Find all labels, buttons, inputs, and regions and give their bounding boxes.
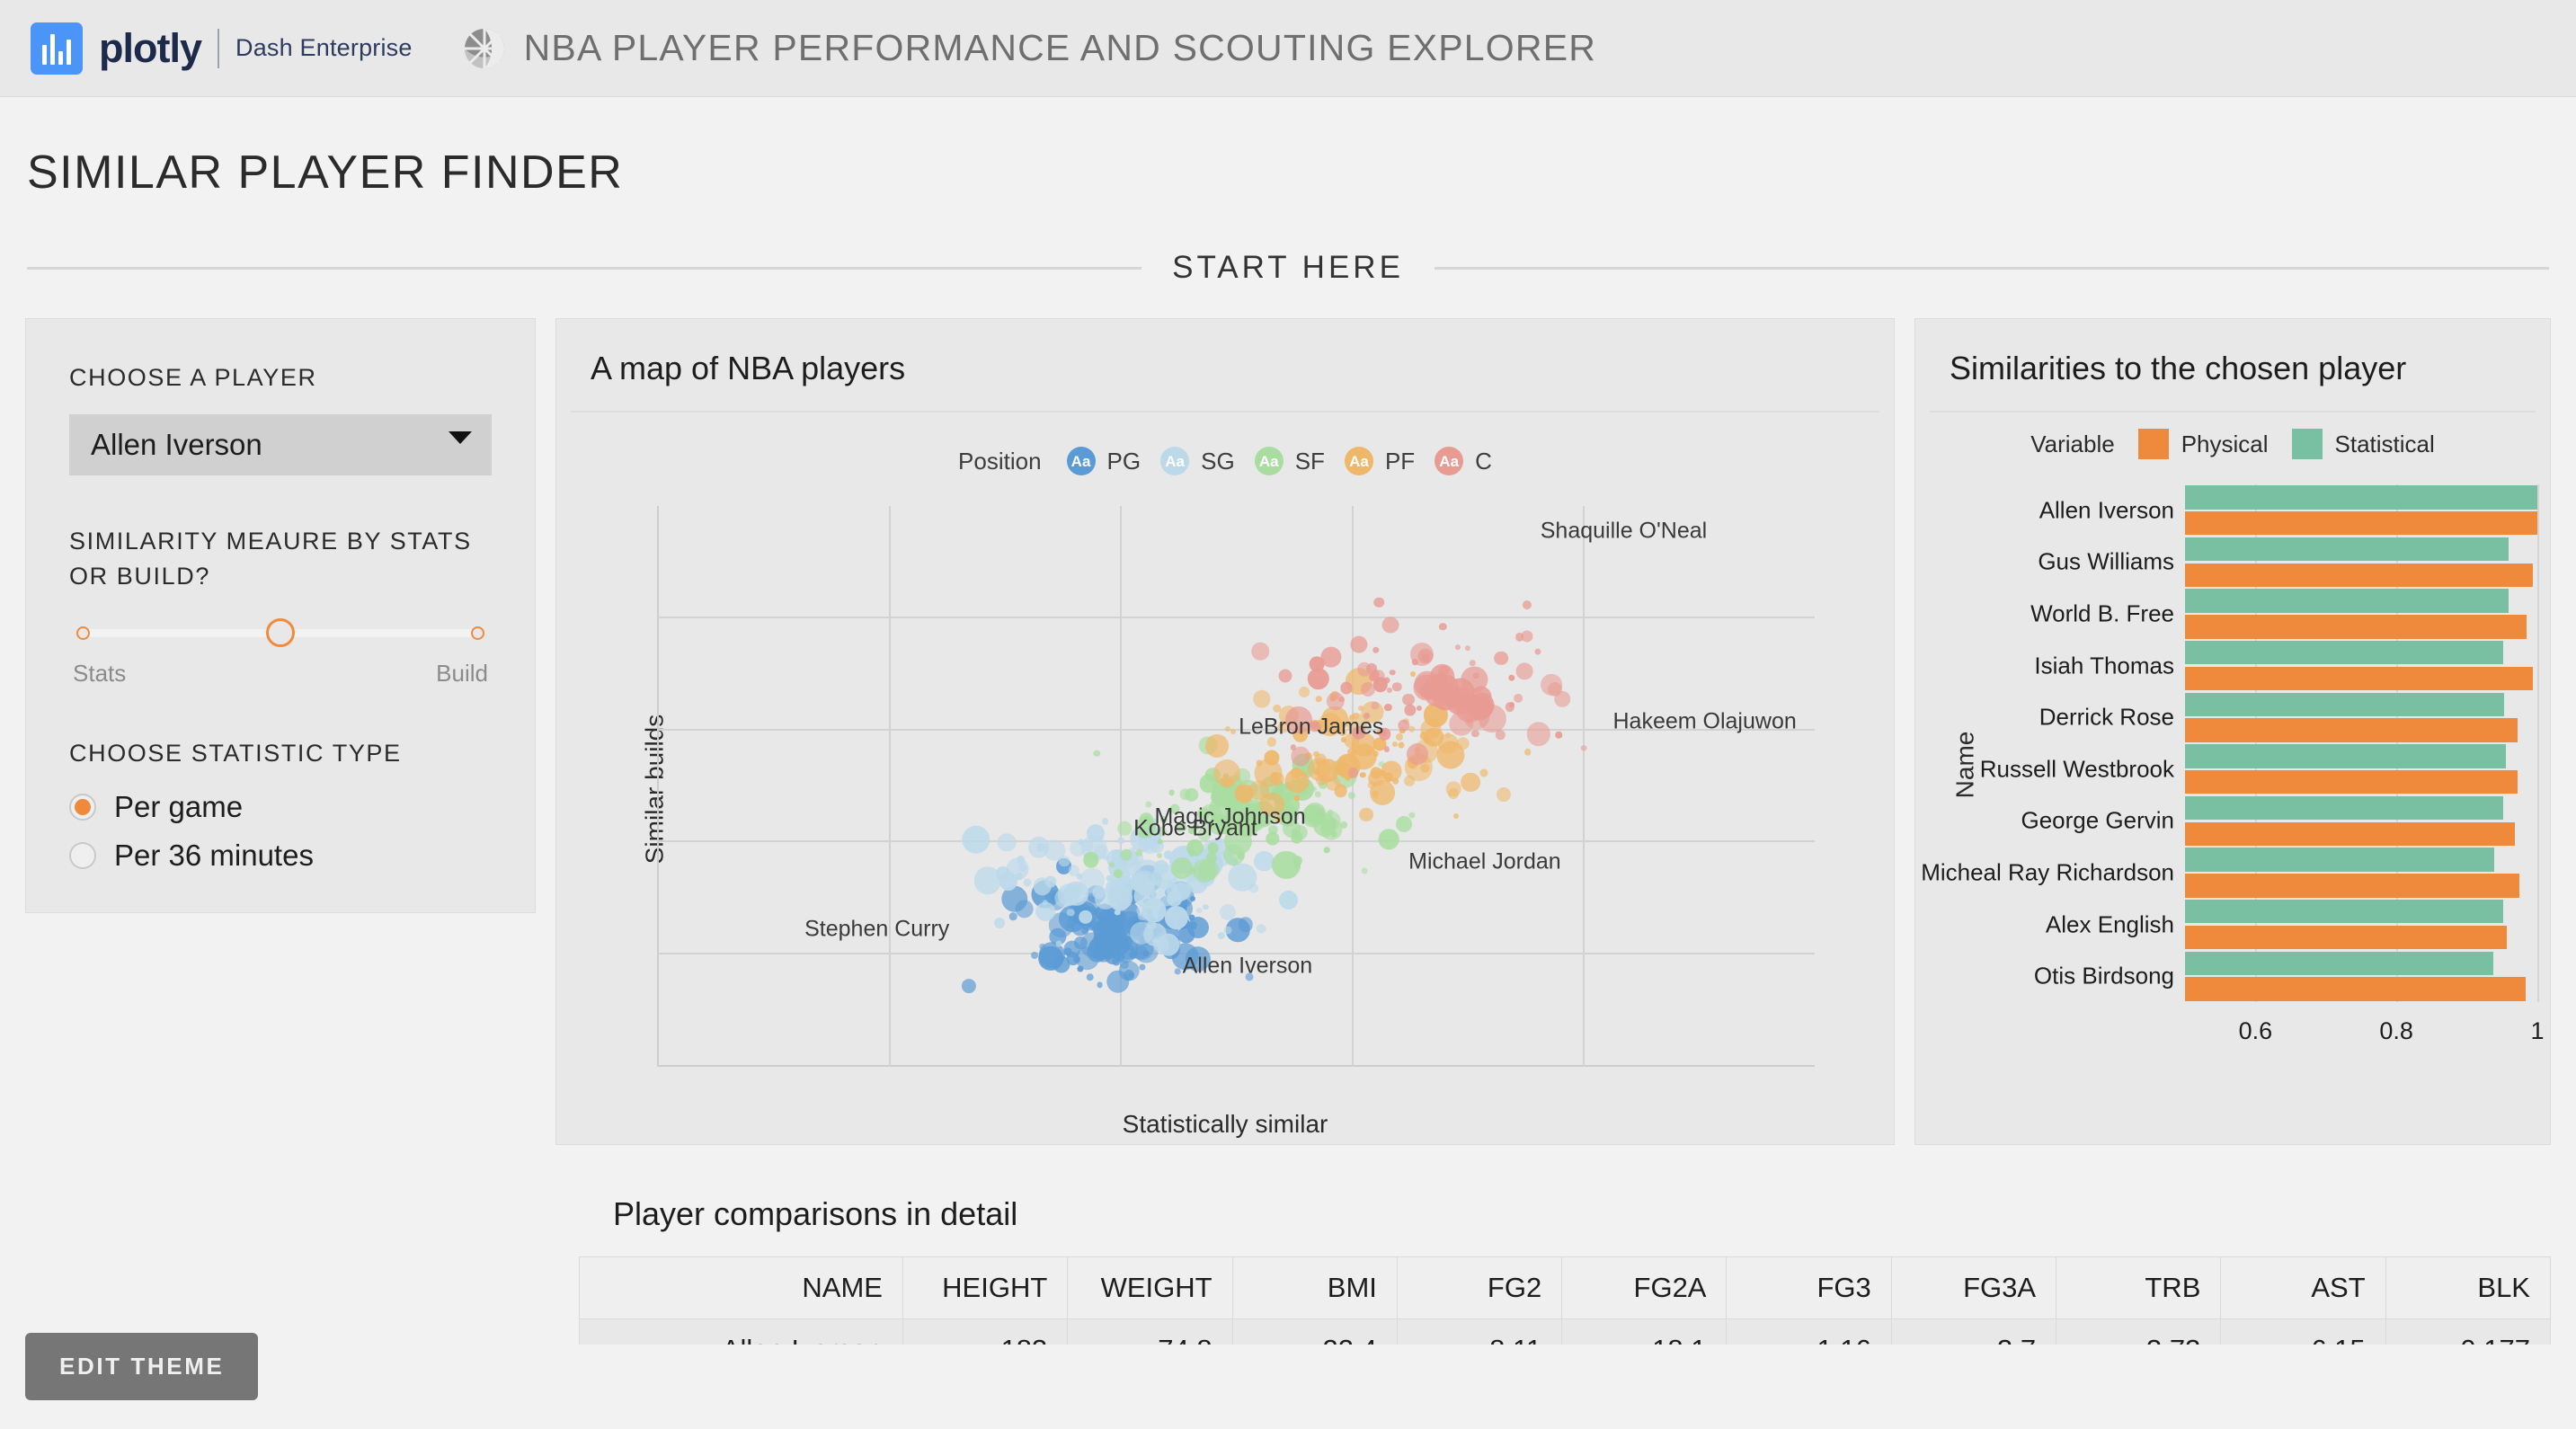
scatter-point[interactable] (1129, 972, 1134, 978)
scatter-point[interactable] (1205, 734, 1229, 758)
scatter-point[interactable] (1271, 772, 1278, 779)
scatter-point[interactable] (1193, 859, 1216, 883)
app-title: NBA PLAYER PERFORMANCE AND SCOUTING EXPL… (524, 27, 1596, 69)
scatter-point[interactable] (1359, 807, 1373, 821)
bar-category-label: Allen Iverson (2039, 496, 2174, 524)
bar-category-label: Derrick Rose (2039, 704, 2174, 732)
scatter-point[interactable] (1179, 789, 1191, 801)
scatter-point[interactable] (1039, 944, 1046, 951)
scatter-plot[interactable]: Position Aa PG Aa SG Aa SF Aa PF (556, 413, 1894, 1166)
similarity-slider[interactable] (75, 613, 486, 654)
scatter-point[interactable] (1265, 750, 1280, 765)
page-title: SIMILAR PLAYER FINDER (0, 97, 2576, 200)
legend-item-pg[interactable]: Aa PG (1067, 447, 1141, 475)
bar-physical[interactable] (2185, 615, 2527, 638)
table-body: Allen Iverson18374.822.48.1118.11.163.73… (580, 1319, 2551, 1345)
scatter-point[interactable] (1324, 848, 1330, 854)
slider-label-max: Build (436, 660, 488, 688)
legend-label-pg: PG (1107, 448, 1141, 475)
scatter-annotation: Stephen Curry (804, 917, 949, 943)
scatter-point[interactable] (1470, 660, 1476, 666)
radio-label-per-36: Per 36 minutes (114, 839, 314, 873)
gridline-vertical (1583, 506, 1585, 1067)
radio-label-per-game: Per game (114, 790, 243, 824)
scatter-point[interactable] (1130, 921, 1153, 945)
radio-icon-per-game[interactable] (69, 794, 96, 821)
scatter-annotation: Hakeem Olajuwon (1612, 709, 1796, 735)
divider-line-left (27, 267, 1141, 270)
legend-swatch-c: Aa (1435, 447, 1463, 475)
gridline-vertical (889, 506, 891, 1067)
table-cell: 22.4 (1232, 1319, 1397, 1345)
scatter-point[interactable] (994, 918, 1005, 928)
scatter-point[interactable] (1213, 759, 1240, 786)
bar-group[interactable]: George Gervin (2185, 795, 2537, 848)
scatter-point[interactable] (1187, 917, 1209, 938)
similarity-bar-title: Similarities to the chosen player (1915, 319, 2550, 411)
bar-statistical[interactable] (2185, 589, 2509, 612)
scatter-point[interactable] (996, 866, 1010, 881)
bar-statistical[interactable] (2185, 537, 2509, 561)
slider-mark-max[interactable] (471, 626, 484, 640)
comparison-table-card: Player comparisons in detail NAMEHEIGHTW… (579, 1165, 2551, 1345)
controls-panel: CHOOSE A PLAYER Allen Iverson SIMILARITY… (25, 318, 536, 913)
legend-title: Position (958, 448, 1042, 475)
table-header-cell[interactable]: TRB (2056, 1257, 2221, 1319)
brand-name: plotly (99, 25, 201, 72)
scatter-point[interactable] (1316, 696, 1322, 702)
table-cell: 0.177 (2385, 1319, 2550, 1345)
bar-statistical[interactable] (2185, 693, 2504, 716)
scatter-point[interactable] (998, 833, 1017, 852)
bar-group[interactable]: Alex English (2185, 899, 2537, 951)
scatter-point[interactable] (1369, 672, 1378, 681)
table-header-cell[interactable]: HEIGHT (903, 1257, 1068, 1319)
table-header-cell[interactable]: BMI (1232, 1257, 1397, 1319)
table-header-row: NAMEHEIGHTWEIGHTBMIFG2FG2AFG3FG3ATRBASTB… (580, 1257, 2551, 1319)
scatter-point[interactable] (1257, 924, 1266, 934)
scatter-point[interactable] (1456, 737, 1470, 750)
bar-physical[interactable] (2185, 667, 2533, 690)
scatter-point[interactable] (1398, 742, 1404, 749)
table-cell: 3.73 (2056, 1319, 2221, 1345)
table-header-cell[interactable]: FG2A (1562, 1257, 1727, 1319)
player-map-card: A map of NBA players Position Aa PG Aa S… (555, 318, 1895, 1145)
divider-label: START HERE (1141, 250, 1435, 286)
scatter-annotation: Shaquille O'Neal (1541, 519, 1707, 545)
statistic-type-label: CHOOSE STATISTIC TYPE (69, 736, 492, 770)
bar-group[interactable]: Derrick Rose (2185, 691, 2537, 743)
legend-swatch-sf: Aa (1255, 447, 1284, 475)
scatter-point[interactable] (1079, 910, 1093, 925)
bar-category-label: World B. Free (2030, 599, 2174, 627)
scatter-point[interactable] (1410, 671, 1416, 677)
scatter-point[interactable] (1368, 770, 1384, 786)
radio-option-per-36[interactable]: Per 36 minutes (69, 839, 492, 873)
scatter-point[interactable] (1402, 694, 1415, 706)
legend-label-sf: SF (1295, 448, 1325, 475)
scatter-point[interactable] (1117, 838, 1124, 845)
scatter-point[interactable] (1171, 851, 1177, 857)
scatter-point[interactable] (1251, 643, 1269, 661)
plotly-logo-icon (31, 22, 83, 75)
bar-y-axis-label: Name (1950, 732, 1979, 799)
chevron-down-icon (449, 431, 472, 444)
table-header-cell[interactable]: FG2 (1397, 1257, 1561, 1319)
bar-group[interactable]: Isiah Thomas (2185, 640, 2537, 692)
edit-theme-button[interactable]: EDIT THEME (25, 1333, 258, 1400)
bar-group[interactable]: Micheal Ray Richardson (2185, 847, 2537, 899)
scatter-point[interactable] (1171, 857, 1193, 879)
variable-legend[interactable]: Variable Physical Statistical (1915, 429, 2550, 459)
table-cell: 8.11 (1397, 1319, 1561, 1345)
legend-swatch-statistical (2292, 429, 2323, 459)
table-header-cell[interactable]: BLK (2385, 1257, 2550, 1319)
scatter-point[interactable] (1453, 813, 1459, 819)
scatter-point[interactable] (1315, 754, 1327, 766)
player-map-title: A map of NBA players (556, 319, 1894, 411)
table-cell: 3.7 (1891, 1319, 2056, 1345)
gridline-horizontal (657, 617, 1815, 618)
radio-option-per-game[interactable]: Per game (69, 790, 492, 824)
legend-label-sg: SG (1201, 448, 1235, 475)
table-cell: Allen Iverson (580, 1319, 903, 1345)
scatter-annotation: Allen Iverson (1183, 953, 1313, 979)
scatter-point[interactable] (1097, 981, 1103, 988)
scatter-point[interactable] (1279, 891, 1299, 910)
legend-item-statistical[interactable]: Statistical (2292, 429, 2435, 459)
bar-category-label: Otis Birdsong (2034, 963, 2174, 990)
bar-physical[interactable] (2185, 926, 2507, 949)
scatter-point[interactable] (1095, 930, 1124, 959)
scatter-point[interactable] (1017, 856, 1026, 865)
bar-physical[interactable] (2185, 822, 2515, 846)
scatter-point[interactable] (1223, 927, 1231, 935)
scatter-point[interactable] (1257, 760, 1263, 767)
bar-x-tick: 0.6 (2239, 1017, 2273, 1045)
bar-category-label: Russell Westbrook (1980, 755, 2174, 783)
scatter-plot-area[interactable]: Shaquille O'NealHakeem OlajuwonLeBron Ja… (657, 506, 1815, 1067)
bar-statistical[interactable] (2185, 744, 2506, 768)
scatter-point[interactable] (1374, 598, 1385, 608)
scatter-point[interactable] (1379, 830, 1399, 850)
scatter-point[interactable] (1390, 670, 1396, 676)
scatter-point[interactable] (1514, 694, 1523, 703)
bar-gridline (2537, 484, 2539, 1002)
bar-chart[interactable]: Name 0.60.81Allen IversonGus WilliamsWor… (1915, 477, 2550, 1052)
basketball-icon (463, 27, 506, 70)
scatter-point[interactable] (1330, 831, 1337, 838)
bar-statistical[interactable] (2185, 848, 2494, 871)
scatter-point[interactable] (1396, 816, 1412, 832)
similarity-bar-card: Similarities to the chosen player Variab… (1914, 318, 2551, 1145)
table-header-cell[interactable]: NAME (580, 1257, 903, 1319)
table-cell: 183 (903, 1319, 1068, 1345)
table-cell: 1.16 (1727, 1319, 1891, 1345)
comparison-table[interactable]: NAMEHEIGHTWEIGHTBMIFG2FG2AFG3FG3ATRBASTB… (579, 1256, 2551, 1345)
legend-swatch-pf: Aa (1345, 447, 1373, 475)
bar-category-label: Micheal Ray Richardson (1921, 858, 2174, 886)
gridline-vertical (1352, 506, 1354, 1067)
scatter-point[interactable] (1186, 839, 1204, 857)
table-header-cell[interactable]: AST (2221, 1257, 2385, 1319)
player-select-value: Allen Iverson (91, 428, 262, 462)
table-header-cell[interactable]: WEIGHT (1068, 1257, 1232, 1319)
scatter-point[interactable] (1581, 745, 1587, 751)
bar-group[interactable]: Otis Birdsong (2185, 950, 2537, 1002)
scatter-point[interactable] (1548, 682, 1562, 697)
divider-line-right (1435, 267, 2549, 270)
scatter-point[interactable] (1168, 789, 1175, 795)
legend-label-physical: Physical (2181, 430, 2269, 458)
bar-group[interactable]: Gus Williams (2185, 537, 2537, 589)
bar-statistical[interactable] (2185, 952, 2493, 975)
legend-item-pf[interactable]: Aa PF (1345, 447, 1415, 475)
scatter-annotation: Michael Jordan (1408, 849, 1561, 875)
scatter-point[interactable] (1107, 885, 1133, 910)
scatter-point[interactable] (1102, 818, 1109, 825)
main-content: CHOOSE A PLAYER Allen Iverson SIMILARITY… (0, 318, 2576, 1145)
scatter-point[interactable] (1220, 904, 1236, 920)
variable-legend-title: Variable (2030, 430, 2114, 458)
scatter-point[interactable] (1480, 768, 1488, 777)
scatter-annotation: Kobe Bryant (1133, 815, 1257, 841)
choose-player-label: CHOOSE A PLAYER (69, 360, 492, 395)
bar-x-tick: 0.8 (2379, 1017, 2413, 1045)
scatter-point[interactable] (1135, 849, 1142, 857)
similarity-measure-label: SIMILARITY MEAURE BY STATS OR BUILD? (69, 524, 492, 593)
top-bar: plotly Dash Enterprise NBA PLAYER PERFOR… (0, 0, 2576, 97)
scatter-point[interactable] (1524, 749, 1532, 756)
scatter-point[interactable] (1024, 879, 1032, 887)
radio-icon-per-36[interactable] (69, 842, 96, 869)
bar-group[interactable]: Russell Westbrook (2185, 743, 2537, 795)
bar-category-label: Alex English (2046, 910, 2174, 938)
scatter-point[interactable] (1361, 867, 1367, 874)
bar-category-label: Isiah Thomas (2034, 652, 2174, 679)
table-cell: 74.8 (1068, 1319, 1232, 1345)
scatter-point[interactable] (1430, 664, 1455, 689)
legend-label-pf: PF (1385, 448, 1415, 475)
legend-label-statistical: Statistical (2335, 430, 2435, 458)
position-legend[interactable]: Position Aa PG Aa SG Aa SF Aa PF (556, 447, 1894, 475)
scatter-point[interactable] (1239, 917, 1254, 932)
scatter-point[interactable] (1515, 633, 1524, 642)
player-select[interactable]: Allen Iverson (69, 414, 492, 475)
scatter-point[interactable] (1279, 669, 1292, 682)
slider-label-min: Stats (73, 660, 126, 688)
scatter-point[interactable] (1230, 729, 1236, 734)
scatter-point[interactable] (1336, 763, 1348, 776)
scatter-point[interactable] (1326, 777, 1340, 791)
scatter-annotation: LeBron James (1239, 714, 1383, 741)
scatter-point[interactable] (1035, 901, 1055, 921)
scatter-point[interactable] (1299, 687, 1310, 697)
bar-category-label: George Gervin (2021, 807, 2174, 835)
legend-item-sf[interactable]: Aa SF (1255, 447, 1325, 475)
scatter-point[interactable] (1340, 821, 1347, 829)
bar-physical[interactable] (2185, 564, 2533, 587)
bar-physical[interactable] (2185, 977, 2526, 1000)
table-cell: 18.1 (1562, 1319, 1727, 1345)
bar-physical[interactable] (2185, 718, 2518, 741)
bar-physical[interactable] (2185, 874, 2519, 897)
slider-mark-min[interactable] (76, 626, 90, 640)
legend-swatch-pg: Aa (1067, 447, 1096, 475)
legend-item-sg[interactable]: Aa SG (1160, 447, 1235, 475)
scatter-point[interactable] (1273, 704, 1282, 713)
scatter-point[interactable] (1056, 940, 1062, 946)
legend-swatch-physical (2138, 429, 2169, 459)
scatter-x-axis-label: Statistically similar (556, 1110, 1894, 1139)
legend-item-c[interactable]: Aa C (1435, 447, 1492, 475)
bar-statistical[interactable] (2185, 796, 2503, 820)
slider-handle[interactable] (266, 618, 295, 647)
legend-swatch-sg: Aa (1160, 447, 1189, 475)
bar-category-label: Gus Williams (2038, 548, 2174, 576)
legend-item-physical[interactable]: Physical (2138, 429, 2269, 459)
start-here-divider: START HERE (0, 250, 2576, 286)
scatter-point[interactable] (1237, 852, 1245, 860)
legend-label-c: C (1475, 448, 1492, 475)
scatter-point[interactable] (1084, 841, 1094, 851)
bar-physical[interactable] (2185, 770, 2518, 794)
scatter-point[interactable] (1067, 909, 1075, 917)
comparison-table-title: Player comparisons in detail (579, 1165, 2551, 1256)
bar-physical[interactable] (2185, 511, 2537, 535)
table-row[interactable]: Allen Iverson18374.822.48.1118.11.163.73… (580, 1319, 2551, 1345)
scatter-point[interactable] (1309, 656, 1324, 671)
scatter-point[interactable] (1382, 617, 1399, 634)
table-header-cell[interactable]: FG3 (1727, 1257, 1891, 1319)
scatter-point[interactable] (1406, 743, 1427, 765)
scatter-point[interactable] (1018, 864, 1026, 872)
card-rule (1930, 411, 2536, 413)
scatter-point[interactable] (1348, 768, 1359, 778)
bar-x-tick: 1 (2530, 1017, 2544, 1045)
brand-product: Dash Enterprise (235, 34, 413, 62)
scatter-point[interactable] (1031, 952, 1038, 959)
scatter-point[interactable] (1387, 688, 1392, 693)
brand-divider (218, 29, 219, 68)
scatter-point[interactable] (1315, 791, 1321, 797)
bar-statistical[interactable] (2185, 641, 2503, 664)
bar-group[interactable]: World B. Free (2185, 588, 2537, 640)
scatter-point[interactable] (1086, 973, 1094, 981)
scatter-point[interactable] (1461, 773, 1480, 793)
bar-group[interactable]: Allen Iverson (2185, 484, 2537, 537)
scatter-point[interactable] (1516, 662, 1533, 679)
scatter-point[interactable] (1494, 652, 1508, 666)
table-cell: 6.15 (2221, 1319, 2385, 1345)
bar-plot-area[interactable]: 0.60.81Allen IversonGus WilliamsWorld B.… (2185, 484, 2537, 1002)
bar-statistical[interactable] (2185, 485, 2537, 509)
table-header-cell[interactable]: FG3A (1891, 1257, 2056, 1319)
bar-statistical[interactable] (2185, 900, 2503, 923)
